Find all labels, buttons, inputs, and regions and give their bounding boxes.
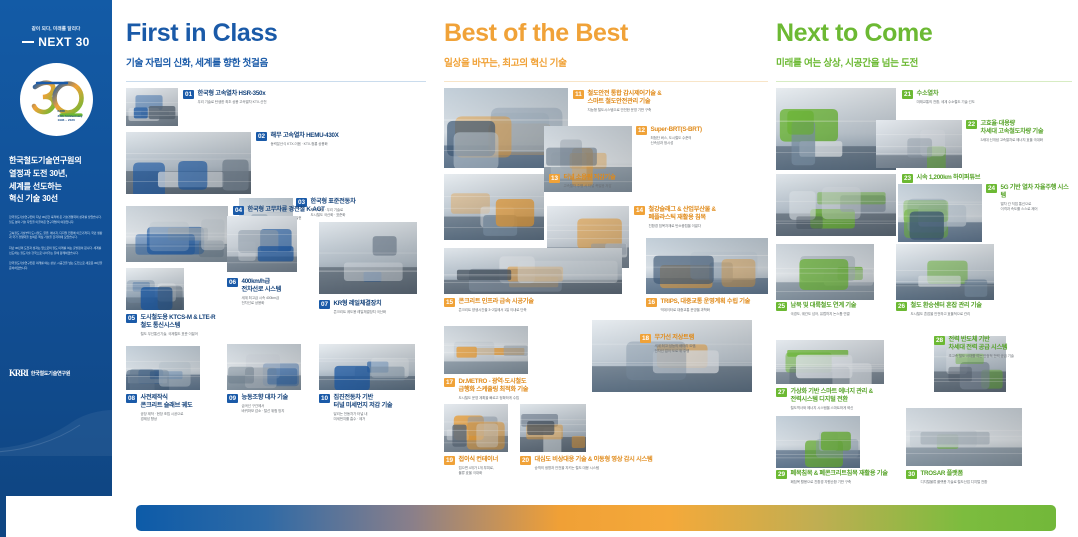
card-label: 06400km/h급 전차선로 시스템세계 최고급 시속 400km급 전차선로…: [227, 278, 305, 307]
card-text: TRIPS, 대중교통 운영계획 수립 기술빅데이터로 대중교통 운영을 과학화: [661, 298, 751, 313]
column-subtitle: 일상을 바꾸는, 최고의 혁신 기술: [444, 55, 768, 69]
card-number-badge: 15: [444, 298, 455, 307]
card-label: 28전력 반도체 기반 차세대 전력 공급 시스템초고속 철도 시대를 여는 안…: [934, 336, 1068, 360]
card-title: 사전제작식 콘크리트 슬래브 궤도: [141, 394, 193, 411]
card-photo-canvas: [126, 268, 184, 310]
card-title: 400km/h급 전차선로 시스템: [242, 278, 282, 295]
card-number-badge: 11: [573, 90, 584, 99]
sidebar: 같이 되다, 미래를 달리다 NEXT 30: [0, 0, 112, 496]
card-title: 철도 환승센터 혼잡 관리 기술: [911, 302, 982, 310]
card-title: 가상화 기반 스마트 에너지 관리 & 전력시스템 디지털 전환: [791, 388, 873, 405]
card-title: Dr.METRO - 광역·도시철도 급행화 스케줄링 최적화 기술: [459, 378, 529, 395]
card-photo-canvas: [776, 174, 896, 236]
card-photo: [776, 174, 896, 236]
card-description: 미래교통의 전환, 세계 수소철도 기술 선도: [917, 100, 975, 105]
card-text: 철도 환승센터 혼잡 관리 기술도시철도 혼잡을 안전하고 효율적으로 관리: [911, 302, 982, 317]
card-title: 능동조향 대차 기술: [242, 394, 288, 402]
card-number-badge: 06: [227, 278, 238, 287]
card-label: 14철강슬래그 & 산업부산물 & 폐플라스틱 재활용 침목친환경 침목자재로 …: [634, 206, 764, 230]
card-text: 철강슬래그 & 산업부산물 & 폐플라스틱 재활용 침목친환경 침목자재로 탄소…: [649, 206, 716, 230]
card-photo-canvas: [592, 320, 752, 392]
card-label: 07KR형 레일체결장치콘크리트 궤도용 레일체결장치 국산화: [319, 300, 423, 315]
card-label: 10집진전동차 기반 터널 미세먼지 저감 기술달리는 전동차가 터널 내 미세…: [319, 394, 424, 423]
card-title: 시속 1,200km 하이퍼튜브: [917, 174, 981, 182]
card-photo-canvas: [227, 344, 301, 390]
card-label: 12Super-BRT(S-BRT)최첨단 버스, 도시철도 수준의 신속성과 …: [636, 126, 754, 146]
card-text: 능동조향 대차 기술급곡선 구간에서 바퀴마모 감소 · 탈선 위험 방지: [242, 394, 288, 414]
card-photo-canvas: [126, 88, 178, 126]
card-number-badge: 10: [319, 394, 330, 403]
card-number-badge: 20: [520, 456, 531, 465]
card-photo-canvas: [444, 174, 544, 240]
card-title: 무가선 저상트램: [655, 334, 697, 342]
sidebar-foot: [0, 496, 112, 537]
card-description: 철도역사와 에너지 시스템을 스마트하게 혁신: [791, 406, 873, 411]
card-description: 달리는 전동차가 터널 내 미세먼지를 흡수 · 제거: [334, 412, 393, 422]
krri-logo: KRRI 한국철도기술연구원: [9, 368, 70, 378]
card-photo: [126, 88, 178, 126]
krri-logo-mark: KRRI: [9, 368, 28, 378]
card-description: 승객의 생명과 안전을 지키는 철도 대응 시스템: [535, 466, 653, 471]
sidebar-paragraph: 고속철도 기술부터 도시철도, 물류, 에너지, 디지털 전환에 이르기까지, …: [9, 231, 103, 240]
card-photo-canvas: [776, 244, 874, 300]
card-text: 철도안전 통합 감시제어기술 & 스마트 철도안전관리 기술지능형 철도시스템으…: [588, 90, 662, 114]
card-photo: [776, 340, 884, 384]
column-card-stage: 11철도안전 통합 감시제어기술 & 스마트 철도안전관리 기술지능형 철도시스…: [444, 88, 768, 478]
card-number-badge: 04: [233, 206, 244, 215]
card-text: 무가선 저상트램세계 최고 성능의 배터리 트램, 전차선 없이 도로 위 주행: [655, 334, 697, 354]
card-description: 공장 제작 · 현장 조립 시공으로 경제성 향상: [141, 412, 193, 422]
card-description: 철도 무선통신기술, 국제철도 표준 이끌어: [141, 332, 216, 337]
card-photo: [444, 248, 622, 294]
card-photo: [444, 404, 508, 452]
card-text: 집진전동차 기반 터널 미세먼지 저감 기술달리는 전동차가 터널 내 미세먼지…: [334, 394, 393, 423]
card-text: 전력 반도체 기반 차세대 전력 공급 시스템초고속 철도 시대를 여는 안정적…: [949, 336, 1014, 360]
card-title: 터널 소음원 저감기술: [564, 174, 616, 182]
card-number-badge: 30: [906, 470, 917, 479]
card-photo: [896, 244, 994, 300]
card-label: 11철도안전 통합 감시제어기술 & 스마트 철도안전관리 기술지능형 철도시스…: [573, 90, 761, 114]
card-title: 접이식 컨테이너: [459, 456, 499, 464]
card-number-badge: 02: [256, 132, 267, 141]
card-photo: [319, 344, 415, 390]
card-photo: [444, 326, 528, 374]
card-title: 콘크리트 인프라 급속 시공기술: [459, 298, 534, 306]
card-description: 친환경 침목자재로 탄소중립을 이끌다: [649, 224, 716, 229]
card-number-badge: 18: [640, 334, 651, 343]
card-photo: [906, 408, 1022, 466]
card-text: 가상화 기반 스마트 에너지 관리 & 전력시스템 디지털 전환철도역사와 에너…: [791, 388, 873, 412]
card-title: 집진전동차 기반 터널 미세먼지 저감 기술: [334, 394, 393, 411]
sidebar-stub: [0, 496, 6, 537]
card-number-badge: 01: [183, 90, 194, 99]
card-description: 콘크리트 양생시간을 3~2일에서 1일 이내로 단축: [459, 308, 534, 313]
anniversary-emblem-wrap: KRRI 30th Anniversary 1996 ~ 2026: [9, 63, 103, 136]
card-description: 고속열차 주행 시 터널 폭발음 저감: [564, 184, 616, 189]
card-text: Super-BRT(S-BRT)최첨단 버스, 도시철도 수준의 신속성과 정시…: [651, 126, 702, 146]
card-photo-canvas: [319, 222, 417, 294]
card-photo-canvas: [776, 416, 860, 468]
card-text: 콘크리트 인프라 급속 시공기술콘크리트 양생시간을 3~2일에서 1일 이내로…: [459, 298, 534, 313]
card-description: 3세대 신개념 고속열차로 에너지 효율 극대화: [981, 138, 1044, 143]
krri-logo-name: 한국철도기술연구원: [31, 370, 71, 377]
card-number-badge: 19: [444, 456, 455, 465]
card-description: 세계 최고급 시속 400km급 전차선로 상용화: [242, 296, 282, 306]
sidebar-paragraph: 한국철도기술연구원은 미래를 여는 상상, 시공간을 넘는 도전으로 새로운 3…: [9, 261, 103, 270]
card-photo: [444, 174, 544, 240]
card-photo-canvas: [444, 404, 508, 452]
card-title: 남북 및 대륙철도 연계 기술: [791, 302, 857, 310]
card-photo-canvas: [776, 340, 884, 384]
card-label: 20대심도 비상대응 기술 & 이동형 영상 감시 시스템승객의 생명과 안전을…: [520, 456, 760, 471]
train-silhouette-icon: [0, 408, 112, 456]
brand-label: NEXT 30: [38, 35, 90, 49]
card-label: 245G 기반 열차 자율주행 시스템열차 간 직접 통신으로 이격과 속도를 …: [986, 184, 1072, 213]
card-photo-canvas: [896, 244, 994, 300]
card-text: 고효율·대용량 차세대 고속철도차량 기술3세대 신개념 고속열차로 에너지 효…: [981, 120, 1044, 144]
card-number-badge: 28: [934, 336, 945, 345]
column-rule: [444, 81, 768, 82]
card-title: KR형 레일체결장치: [334, 300, 387, 308]
column-subtitle: 미래를 여는 상상, 시공간을 넘는 도전: [776, 55, 1072, 69]
card-text: 400km/h급 전차선로 시스템세계 최고급 시속 400km급 전차선로 상…: [242, 278, 282, 307]
card-label: 02해무 고속열차 HEMU-430X동력분산식 KTX-이음 · KTX-청룡…: [256, 132, 356, 147]
card-description: 도시철도 운영 계획을 빠르고 정확하게 수립: [459, 396, 529, 401]
card-photo-canvas: [126, 346, 200, 390]
column-card-stage: 21수소열차미래교통의 전환, 세계 수소철도 기술 선도22고효율·대용량 차…: [776, 88, 1072, 478]
column-title: First in Class: [126, 20, 426, 48]
anniversary-emblem: KRRI 30th Anniversary 1996 ~ 2026: [20, 63, 93, 136]
card-text: 남북 및 대륙철도 연계 기술국경도, 궤간도 넘어, 유럽까지 논스톱 연결: [791, 302, 857, 317]
card-label: 05도시철도용 KTCS-M & LTE-R 철도 통신시스템철도 무선통신기술…: [126, 314, 244, 338]
card-description: 접으면 4개가 1개 부피로, 물류 효율 극대화: [459, 466, 499, 476]
card-number-badge: 23: [902, 174, 913, 183]
column-best-of-the-best: Best of the Best 일상을 바꾸는, 최고의 혁신 기술 11철도…: [444, 0, 768, 478]
card-text: 수소열차미래교통의 전환, 세계 수소철도 기술 선도: [917, 90, 975, 105]
card-photo-canvas: [444, 248, 622, 294]
card-text: TROSAR 플랫폼디지털물류 플랫폼 기술로 철도산업 디지털 전환: [921, 470, 988, 485]
column-rule: [126, 81, 426, 82]
card-description: 국경도, 궤간도 넘어, 유럽까지 논스톱 연결: [791, 312, 857, 317]
sidebar-headline: 한국철도기술연구원의 열정과 도전 30년, 세계를 선도하는 혁신 기술 30…: [9, 155, 103, 206]
card-photo: [776, 244, 874, 300]
card-number-badge: 24: [986, 184, 997, 193]
card-description: 동력분산식 KTX-이음 · KTX-청룡 상용화: [271, 142, 339, 147]
card-photo-canvas: [906, 408, 1022, 466]
card-number-badge: 21: [902, 90, 913, 99]
column-subtitle: 기술 자립의 신화, 세계를 향한 첫걸음: [126, 55, 426, 69]
card-photo: [876, 120, 962, 168]
column-rule: [776, 81, 1072, 82]
card-title: 철강슬래그 & 산업부산물 & 폐플라스틱 재활용 침목: [649, 206, 716, 223]
card-number-badge: 16: [646, 298, 657, 307]
card-label: 08사전제작식 콘크리트 슬래브 궤도공장 제작 · 현장 조립 시공으로 경제…: [126, 394, 238, 423]
bottom-gradient-bar: [136, 505, 1056, 531]
card-text: 대심도 비상대응 기술 & 이동형 영상 감시 시스템승객의 생명과 안전을 지…: [535, 456, 653, 471]
card-photo: [126, 132, 251, 194]
card-description: 도시철도 혼잡을 안전하고 효율적으로 관리: [911, 312, 982, 317]
card-text: 5G 기반 열차 자율주행 시스템열차 간 직접 통신으로 이격과 속도를 스스…: [1001, 184, 1073, 213]
card-number-badge: 07: [319, 300, 330, 309]
card-title: TROSAR 플랫폼: [921, 470, 988, 478]
card-description: 지능형 철도시스템으로 안전한 운영 기반 구축: [588, 108, 662, 113]
card-photo-canvas: [126, 206, 228, 262]
card-description: 최첨단 버스, 도시철도 수준의 신속성과 정시성: [651, 136, 702, 146]
card-number-badge: 14: [634, 206, 645, 215]
card-title: 수소열차: [917, 90, 975, 98]
card-label: 30TROSAR 플랫폼디지털물류 플랫폼 기술로 철도산업 디지털 전환: [906, 470, 1066, 485]
card-title: 한국형 고무차륜 경전철 K-AGT: [248, 206, 325, 214]
card-description: 열차 간 직접 통신으로 이격과 속도를 스스로 제어: [1001, 202, 1073, 212]
card-photo: [227, 344, 301, 390]
card-label: 18무가선 저상트램세계 최고 성능의 배터리 트램, 전차선 없이 도로 위 …: [640, 334, 762, 354]
card-photo: [319, 222, 417, 294]
card-label: 22고효율·대용량 차세대 고속철도차량 기술3세대 신개념 고속열차로 에너지…: [966, 120, 1072, 144]
card-title: 폐목침목 & 폐콘크리트침목 재활용 기술: [791, 470, 888, 478]
card-number-badge: 29: [776, 470, 787, 479]
card-photo-canvas: [319, 344, 415, 390]
card-description: 콘크리트 궤도용 레일체결장치 국산화: [334, 310, 387, 315]
card-title: Super-BRT(S-BRT): [651, 126, 702, 134]
card-text: 사전제작식 콘크리트 슬래브 궤도공장 제작 · 현장 조립 시공으로 경제성 …: [141, 394, 193, 423]
card-number-badge: 09: [227, 394, 238, 403]
card-number-badge: 12: [636, 126, 647, 135]
card-label: 21수소열차미래교통의 전환, 세계 수소철도 기술 선도: [902, 90, 1060, 105]
card-label: 17Dr.METRO - 광역·도시철도 급행화 스케줄링 최적화 기술도시철도…: [444, 378, 584, 402]
sidebar-brand: NEXT 30: [9, 35, 103, 49]
brand-dash-icon: [22, 41, 34, 43]
column-title: Next to Come: [776, 20, 1072, 48]
card-photo: [126, 268, 184, 310]
sidebar-paragraph: 한국철도기술연구원이 지난 30년간 축적해 온 기술경쟁력의 성과를 담았습니…: [9, 215, 103, 224]
card-photo: [227, 216, 297, 272]
card-text: 도시철도용 KTCS-M & LTE-R 철도 통신시스템철도 무선통신기술, …: [141, 314, 216, 338]
column-next-to-come: Next to Come 미래를 여는 상상, 시공간을 넘는 도전 21수소열…: [776, 0, 1072, 478]
card-photo: [592, 320, 752, 392]
card-text: 터널 소음원 저감기술고속열차 주행 시 터널 폭발음 저감: [564, 174, 616, 189]
card-photo: [126, 346, 200, 390]
card-title: 고효율·대용량 차세대 고속철도차량 기술: [981, 120, 1044, 137]
card-photo: [126, 206, 228, 262]
card-label: 13터널 소음원 저감기술고속열차 주행 시 터널 폭발음 저감: [549, 174, 731, 189]
card-label: 15콘크리트 인프라 급속 시공기술콘크리트 양생시간을 3~2일에서 1일 이…: [444, 298, 630, 313]
poster-root: 같이 되다, 미래를 달리다 NEXT 30: [0, 0, 1078, 537]
card-description: 폐침목 활용으로 친환경 자원순환 기반 구축: [791, 480, 888, 485]
card-title: 한국형 고속열차 HSR-350x: [198, 90, 267, 98]
card-description: 초고속 철도 시대를 여는 안정적 전력 공급 기술: [949, 354, 1014, 359]
card-number-badge: 13: [549, 174, 560, 183]
card-number-badge: 05: [126, 314, 137, 323]
card-label: 26철도 환승센터 혼잡 관리 기술도시철도 혼잡을 안전하고 효율적으로 관리: [896, 302, 1024, 317]
column-card-stage: 01한국형 고속열차 HSR-350x우리 기술로 탄생한 최초 상용 고속열차…: [126, 88, 426, 468]
card-number-badge: 25: [776, 302, 787, 311]
card-title: TRIPS, 대중교통 운영계획 수립 기술: [661, 298, 751, 306]
card-photo-canvas: [876, 120, 962, 168]
card-title: 대심도 비상대응 기술 & 이동형 영상 감시 시스템: [535, 456, 653, 464]
card-title: 5G 기반 열차 자율주행 시스템: [1001, 184, 1073, 201]
card-photo: [520, 404, 586, 452]
card-photo: [646, 238, 768, 294]
card-label: 16TRIPS, 대중교통 운영계획 수립 기술빅데이터로 대중교통 운영을 과…: [646, 298, 768, 313]
card-text: 폐목침목 & 폐콘크리트침목 재활용 기술폐침목 활용으로 친환경 자원순환 기…: [791, 470, 888, 485]
card-number-badge: 27: [776, 388, 787, 397]
card-number-badge: 08: [126, 394, 137, 403]
card-photo-canvas: [126, 132, 251, 194]
card-photo-canvas: [444, 326, 528, 374]
sidebar-paragraph: 지난 30년의 도전과 성과는 앞으로의 철도 미래를 여는 출발점이 됩니다.…: [9, 246, 103, 255]
card-photo-canvas: [646, 238, 768, 294]
card-description: 세계 최고 성능의 배터리 트램, 전차선 없이 도로 위 주행: [655, 344, 697, 354]
card-text: Dr.METRO - 광역·도시철도 급행화 스케줄링 최적화 기술도시철도 운…: [459, 378, 529, 402]
column-first-in-class: First in Class 기술 자립의 신화, 세계를 향한 첫걸음 01한…: [126, 0, 426, 468]
column-title: Best of the Best: [444, 20, 768, 48]
card-number-badge: 22: [966, 120, 977, 129]
card-label: 01한국형 고속열차 HSR-350x우리 기술로 탄생한 최초 상용 고속열차…: [183, 90, 301, 105]
card-label: 25남북 및 대륙철도 연계 기술국경도, 궤간도 넘어, 유럽까지 논스톱 연…: [776, 302, 904, 317]
card-title: 해무 고속열차 HEMU-430X: [271, 132, 339, 140]
card-title: 전력 반도체 기반 차세대 전력 공급 시스템: [949, 336, 1014, 353]
card-photo-canvas: [898, 184, 982, 242]
card-text: 해무 고속열차 HEMU-430X동력분산식 KTX-이음 · KTX-청룡 상…: [271, 132, 339, 147]
card-description: 디지털물류 플랫폼 기술로 철도산업 디지털 전환: [921, 480, 988, 485]
card-title: 철도안전 통합 감시제어기술 & 스마트 철도안전관리 기술: [588, 90, 662, 107]
card-text: 한국형 고속열차 HSR-350x우리 기술로 탄생한 최초 상용 고속열차 K…: [198, 90, 267, 105]
sidebar-body: 한국철도기술연구원이 지난 30년간 축적해 온 기술경쟁력의 성과를 담았습니…: [9, 215, 103, 271]
card-text: KR형 레일체결장치콘크리트 궤도용 레일체결장치 국산화: [334, 300, 387, 315]
card-photo-canvas: [520, 404, 586, 452]
card-title: 도시철도용 KTCS-M & LTE-R 철도 통신시스템: [141, 314, 216, 331]
emblem-caption: KRRI 30th Anniversary 1996 ~ 2026: [58, 109, 83, 122]
card-photo-canvas: [227, 216, 297, 272]
card-photo: [898, 184, 982, 242]
card-description: 우리 기술로 탄생한 최초 상용 고속열차 KTX-산천: [198, 100, 267, 105]
card-number-badge: 26: [896, 302, 907, 311]
card-text: 접이식 컨테이너접으면 4개가 1개 부피로, 물류 효율 극대화: [459, 456, 499, 476]
card-description: 빅데이터로 대중교통 운영을 과학화: [661, 308, 751, 313]
sidebar-tagline: 같이 되다, 미래를 달리다: [9, 26, 103, 32]
card-description: 급곡선 구간에서 바퀴마모 감소 · 탈선 위험 방지: [242, 404, 288, 414]
card-photo: [776, 416, 860, 468]
card-number-badge: 17: [444, 378, 455, 387]
